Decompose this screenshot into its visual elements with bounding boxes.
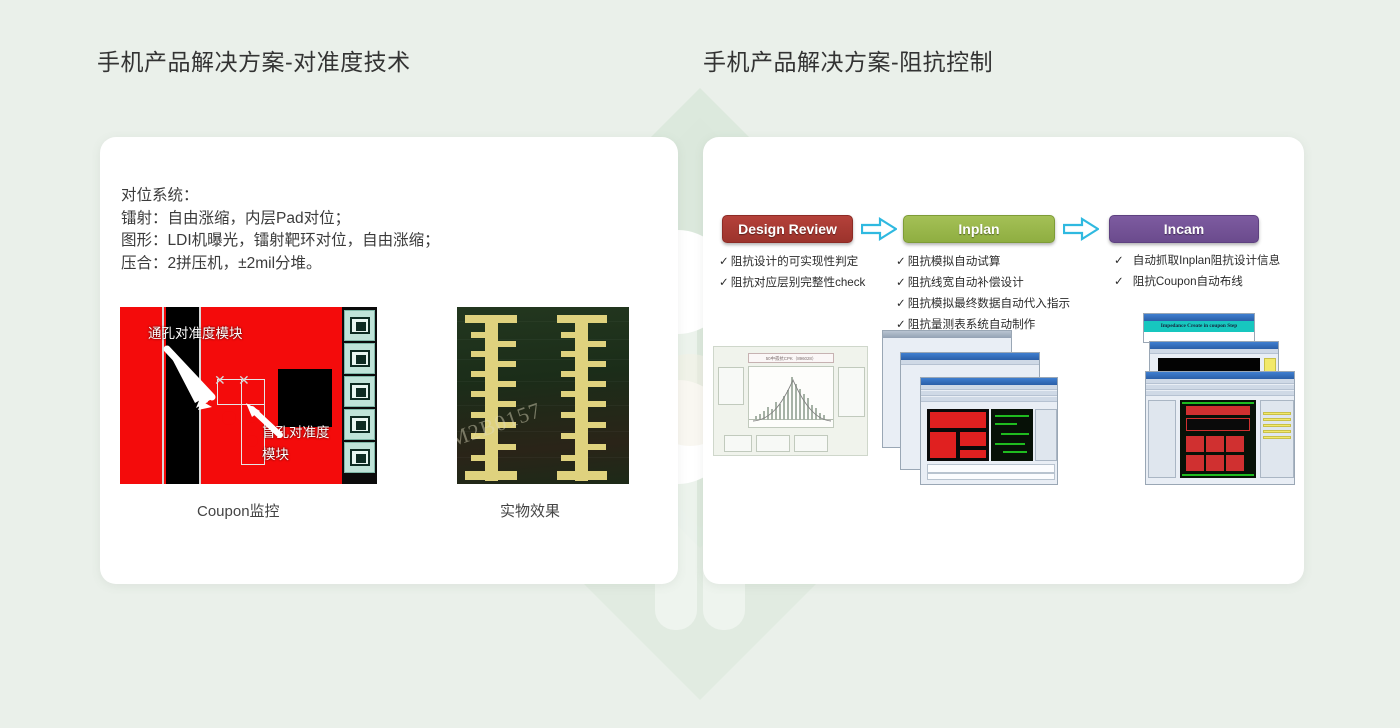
histogram-title: 50中孤抗CPK（896028） [748, 353, 834, 363]
coupon-cad-view: ✕ ✕ 通孔对准度模块 盲孔对准度 模块 [120, 307, 377, 484]
cad-toolbar[interactable] [342, 307, 377, 484]
incam-window-title: Impedance Create in coupon Step [1144, 321, 1254, 332]
alignment-line-3: 压合：2拼压机，±2mil分堆。 [121, 253, 440, 276]
caption-physical-effect: 实物效果 [500, 500, 560, 521]
histogram-plot [748, 366, 834, 428]
bullet-item: ✓阻抗线宽自动补偿设计 [896, 272, 1070, 293]
check-icon: ✓ [719, 255, 729, 268]
bullet-item: ✓阻抗Coupon自动布线 [1114, 271, 1280, 292]
check-icon: ✓ [1114, 275, 1124, 288]
cad-arrows [120, 307, 377, 484]
alignment-system-text: 对位系统： 镭射：自由涨缩，内层Pad对位； 图形：LDI机曝光，镭射靶环对位，… [121, 185, 440, 275]
alignment-line-2: 图形：LDI机曝光，镭射靶环对位，自由涨缩； [121, 230, 440, 253]
cpk-histogram-window: 50中孤抗CPK（896028） [713, 346, 868, 456]
bullet-item: ✓阻抗模拟最终数据自动代入指示 [896, 293, 1070, 314]
move-right-icon[interactable] [344, 442, 375, 473]
alignment-line-1: 镭射：自由涨缩，内层Pad对位； [121, 208, 440, 231]
normal-curve [749, 367, 834, 428]
bullets-design-review: ✓阻抗设计的可实现性判定 ✓阻抗对应层别完整性check [719, 251, 865, 293]
bullet-item: ✓自动抓取Inplan阻抗设计信息 [1114, 250, 1280, 271]
bullet-item: ✓阻抗对应层别完整性check [719, 272, 865, 293]
move-left-icon[interactable] [344, 409, 375, 440]
flow-arrow-1 [861, 217, 897, 241]
check-icon: ✓ [896, 276, 906, 289]
check-icon: ✓ [719, 276, 729, 289]
move-down-icon[interactable] [344, 376, 375, 407]
bullets-inplan: ✓阻抗模拟自动试算 ✓阻抗线宽自动补偿设计 ✓阻抗模拟最终数据自动代入指示 ✓阻… [896, 251, 1070, 335]
bullets-incam: ✓自动抓取Inplan阻抗设计信息 ✓阻抗Coupon自动布线 [1114, 250, 1280, 292]
move-up-icon[interactable] [344, 343, 375, 374]
flow-step-design-review[interactable]: Design Review [722, 215, 853, 243]
coupon-physical-photo: M2B0157 [457, 307, 629, 484]
caption-coupon-monitoring: Coupon监控 [197, 500, 280, 521]
alignment-line-0: 对位系统： [121, 185, 440, 208]
incam-impedance-windows: Impedance Create in coupon Step [1143, 313, 1300, 485]
page-title-left: 手机产品解决方案-对准度技术 [97, 43, 411, 77]
check-icon: ✓ [1114, 254, 1124, 267]
flow-arrow-2 [1063, 217, 1099, 241]
flow-step-inplan[interactable]: Inplan [903, 215, 1055, 243]
page-title-right: 手机产品解决方案-阻抗控制 [703, 43, 993, 77]
check-icon: ✓ [896, 297, 906, 310]
inplan-cam-windows [882, 330, 1058, 485]
check-icon: ✓ [896, 255, 906, 268]
flow-step-incam[interactable]: Incam [1109, 215, 1259, 243]
restore-icon[interactable] [344, 310, 375, 341]
bullet-item: ✓阻抗模拟自动试算 [896, 251, 1070, 272]
bullet-item: ✓阻抗设计的可实现性判定 [719, 251, 865, 272]
